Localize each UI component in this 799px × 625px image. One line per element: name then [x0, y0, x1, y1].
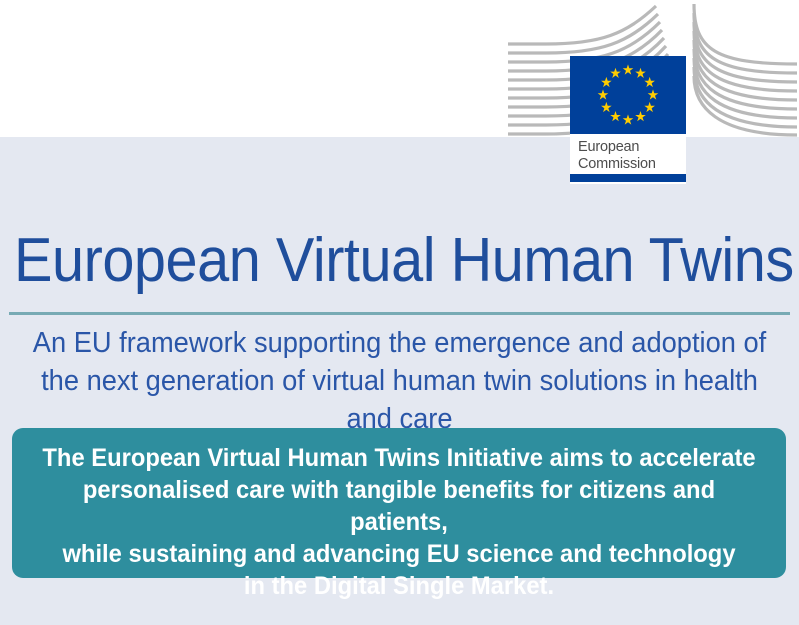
callout-line-1: The European Virtual Human Twins Initiat…: [31, 442, 766, 474]
title-divider: [9, 312, 790, 315]
subtitle-line-2: the next generation of virtual human twi…: [24, 362, 775, 438]
ec-name-line-2: Commission: [578, 156, 686, 173]
subtitle-line-1: An EU framework supporting the emergence…: [24, 324, 775, 362]
mission-callout-box: The European Virtual Human Twins Initiat…: [12, 428, 786, 578]
ec-name-line-1: European: [578, 139, 686, 156]
callout-line-2: personalised care with tangible benefits…: [31, 474, 766, 538]
page-subtitle: An EU framework supporting the emergence…: [0, 324, 799, 438]
eu-flag: [570, 56, 686, 134]
callout-line-4: in the Digital Single Market.: [31, 570, 766, 602]
callout-line-3: while sustaining and advancing EU scienc…: [31, 538, 766, 570]
ec-logo-underbar: [570, 174, 686, 182]
mission-callout-text: The European Virtual Human Twins Initiat…: [12, 442, 786, 602]
page-title: European Virtual Human Twins: [14, 226, 735, 296]
wave-right-decoration: [676, 0, 799, 137]
european-commission-logo: European Commission: [506, 0, 799, 184]
page-root: European Commission European Virtual Hum…: [0, 0, 799, 625]
